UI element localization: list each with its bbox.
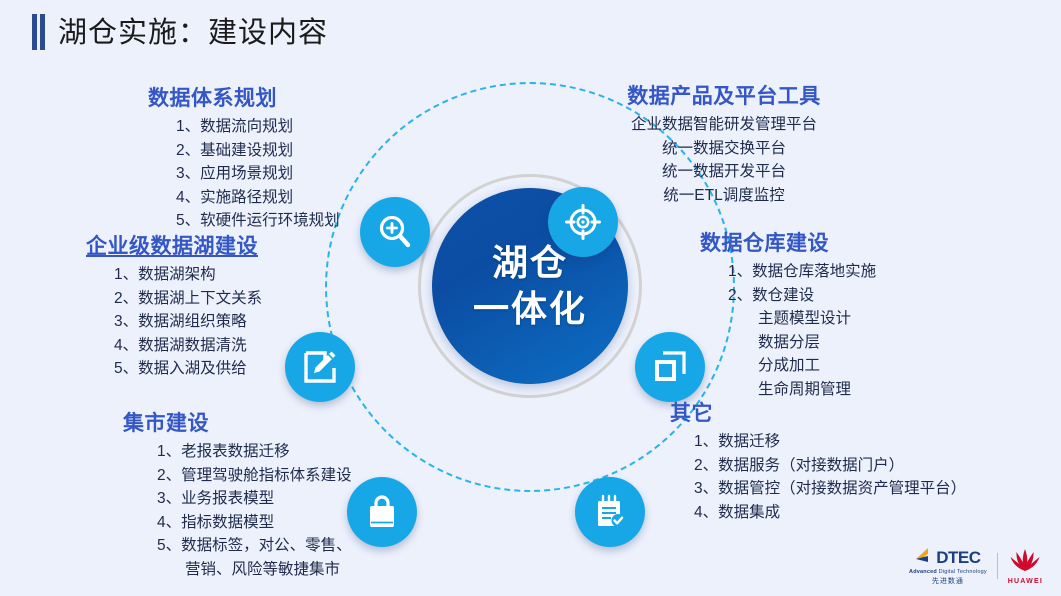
block-other: 其它 1、数据迁移 2、数据服务（对接数据门户） 3、数据管控（对接数据资产管理… <box>670 397 966 524</box>
block-enterprise-data-lake: 企业级数据湖建设 1、数据湖架构 2、数据湖上下文关系 3、数据湖组织策略 4、… <box>86 230 262 381</box>
list-item: 1、数据流向规划 <box>176 115 340 139</box>
list-item: 企业数据智能研发管理平台 <box>604 113 844 137</box>
block-title: 数据产品及平台工具 <box>604 80 844 110</box>
block-data-warehouse: 数据仓库建设 1、数据仓库落地实施 2、数仓建设 主题模型设计 数据分层 分成加… <box>700 227 876 401</box>
huawei-flower-icon <box>1008 548 1042 576</box>
center-label-line1: 湖仓 <box>492 240 568 286</box>
block-list: 1、老报表数据迁移 2、管理驾驶舱指标体系建设 3、业务报表模型 4、指标数据模… <box>123 440 352 581</box>
block-title: 数据仓库建设 <box>700 227 876 257</box>
list-item: 2、数据湖上下文关系 <box>114 287 262 311</box>
list-item: 2、管理驾驶舱指标体系建设 <box>157 464 352 488</box>
block-list: 1、数据仓库落地实施 2、数仓建设 主题模型设计 数据分层 分成加工 生命周期管… <box>700 260 876 401</box>
block-title: 其它 <box>670 397 966 427</box>
footer-logos: DTEC Advanced Digital Technology 先进数通 HU… <box>909 544 1043 588</box>
list-item: 2、基础建设规划 <box>176 139 340 163</box>
accent-bar-left <box>32 14 37 50</box>
block-title: 数据体系规划 <box>148 82 340 112</box>
list-item: 统一ETL调度监控 <box>604 184 844 208</box>
block-data-system-planning: 数据体系规划 1、数据流向规划 2、基础建设规划 3、应用场景规划 4、实施路径… <box>148 82 340 233</box>
list-item: 3、业务报表模型 <box>157 487 352 511</box>
huawei-logo: HUAWEI <box>1008 548 1043 585</box>
list-item: 5、数据入湖及供给 <box>114 357 262 381</box>
block-title: 企业级数据湖建设 <box>86 230 262 260</box>
accent-bar-right <box>40 14 45 50</box>
edit-pencil-square-icon[interactable] <box>285 332 355 402</box>
block-title: 集市建设 <box>123 407 352 437</box>
dtec-tagline-rest: Digital Technology <box>937 569 987 575</box>
list-item: 4、数据湖数据清洗 <box>114 334 262 358</box>
center-label-line2: 一体化 <box>473 286 587 332</box>
dtec-mark-icon <box>915 547 935 568</box>
slide-header: 湖仓实施：建设内容 <box>0 0 1061 62</box>
list-item: 1、数据迁移 <box>694 430 966 454</box>
zoom-in-icon[interactable] <box>360 197 430 267</box>
list-item: 4、指标数据模型 <box>157 511 352 535</box>
huawei-wordmark: HUAWEI <box>1008 578 1043 585</box>
dtec-logo-row: DTEC <box>915 547 980 568</box>
shopping-bag-icon[interactable] <box>347 477 417 547</box>
list-item: 3、应用场景规划 <box>176 162 340 186</box>
logo-divider <box>997 553 998 579</box>
block-list: 1、数据迁移 2、数据服务（对接数据门户） 3、数据管控（对接数据资产管理平台）… <box>670 430 966 524</box>
dtec-tagline: Advanced Digital Technology <box>909 570 987 576</box>
block-data-mart: 集市建设 1、老报表数据迁移 2、管理驾驶舱指标体系建设 3、业务报表模型 4、… <box>123 407 352 581</box>
list-item: 4、数据集成 <box>694 501 966 525</box>
block-list: 1、数据流向规划 2、基础建设规划 3、应用场景规划 4、实施路径规划 5、软硬… <box>148 115 340 233</box>
list-item: 统一数据交换平台 <box>604 137 844 161</box>
list-item: 3、数据管控（对接数据资产管理平台） <box>694 477 966 501</box>
list-item: 1、数据仓库落地实施 <box>728 260 876 284</box>
dtec-logo: DTEC Advanced Digital Technology 先进数通 <box>909 547 987 585</box>
page-title: 湖仓实施：建设内容 <box>58 9 328 51</box>
list-item: 1、数据湖架构 <box>114 263 262 287</box>
list-item: 5、数据标签，对公、零售、 <box>157 534 352 558</box>
block-list: 企业数据智能研发管理平台 统一数据交换平台 统一数据开发平台 统一ETL调度监控 <box>604 113 844 207</box>
hub-and-spoke-diagram: 湖仓 一体化 <box>0 62 1061 596</box>
title-accent-bars <box>32 14 46 50</box>
list-item-continuation: 营销、风险等敏捷集市 <box>157 558 352 582</box>
list-subitem: 数据分层 <box>728 331 876 355</box>
block-list: 1、数据湖架构 2、数据湖上下文关系 3、数据湖组织策略 4、数据湖数据清洗 5… <box>86 263 262 381</box>
dtec-tagline-bold: Advanced <box>909 569 937 575</box>
dtec-chinese-name: 先进数通 <box>932 578 964 585</box>
list-item: 1、老报表数据迁移 <box>157 440 352 464</box>
list-subitem: 主题模型设计 <box>728 307 876 331</box>
list-item: 4、实施路径规划 <box>176 186 340 210</box>
copy-layers-icon[interactable] <box>635 332 705 402</box>
list-item: 3、数据湖组织策略 <box>114 310 262 334</box>
list-item: 2、数据服务（对接数据门户） <box>694 454 966 478</box>
list-item: 2、数仓建设 <box>728 284 876 308</box>
list-item: 统一数据开发平台 <box>604 160 844 184</box>
notepad-check-icon[interactable] <box>575 477 645 547</box>
list-subitem: 分成加工 <box>728 354 876 378</box>
block-data-products-and-platform-tools: 数据产品及平台工具 企业数据智能研发管理平台 统一数据交换平台 统一数据开发平台… <box>604 80 844 207</box>
dtec-wordmark: DTEC <box>936 549 980 566</box>
